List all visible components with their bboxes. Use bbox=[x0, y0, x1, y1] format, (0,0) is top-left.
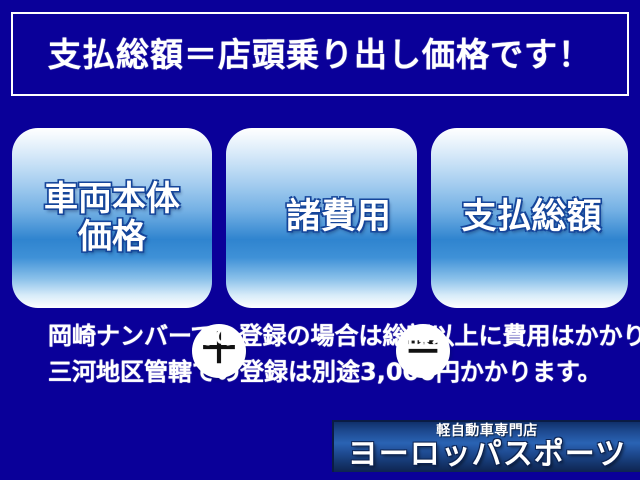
formula-box-total-payment-label: 支払総額 bbox=[457, 198, 601, 237]
note-line-okazaki: 岡崎ナンバーでの登録の場合は総額以上に費用はかかりません。 bbox=[0, 318, 640, 354]
formula-box-vehicle-price-label: 車両本体 価格 bbox=[44, 180, 180, 256]
formula-box-vehicle-price: 車両本体 価格 bbox=[12, 128, 212, 308]
shop-logo-badge: 軽自動車専門店 ヨーロッパスポーツ bbox=[332, 420, 640, 472]
headline-banner: 支払総額＝店頭乗り出し価格です！ bbox=[11, 12, 629, 96]
price-explanation-banner: 支払総額＝店頭乗り出し価格です！ 車両本体 価格 ＋ 諸費用 ＝ 支払総額 岡崎… bbox=[0, 0, 640, 480]
headline-text: 支払総額＝店頭乗り出し価格です！ bbox=[48, 38, 592, 71]
formula-box-fees-label: 諸費用 bbox=[252, 198, 391, 237]
note-block: 岡崎ナンバーでの登録の場合は総額以上に費用はかかりません。 三河地区管轄での登録… bbox=[0, 318, 640, 390]
shop-logo-subtitle: 軽自動車専門店 bbox=[436, 424, 538, 438]
price-formula-row: 車両本体 価格 ＋ 諸費用 ＝ 支払総額 bbox=[0, 128, 640, 308]
formula-box-total-payment: 支払総額 bbox=[431, 128, 628, 308]
shop-logo-name: ヨーロッパスポーツ bbox=[348, 439, 626, 471]
formula-box-fees: 諸費用 bbox=[226, 128, 417, 308]
note-line-mikawa: 三河地区管轄での登録は別途3,000円かかります。 bbox=[0, 354, 640, 390]
